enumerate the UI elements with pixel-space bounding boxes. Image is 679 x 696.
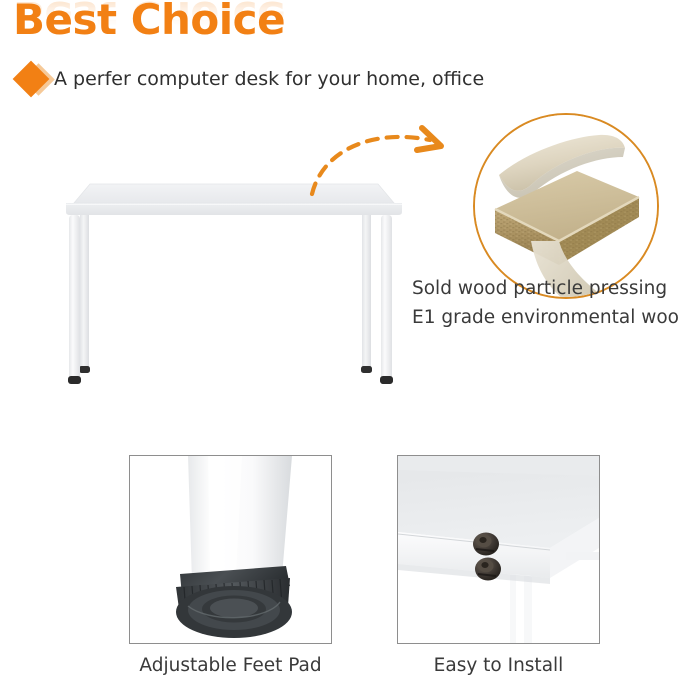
bolt-lower: [475, 558, 501, 581]
material-line-2: E1 grade environmental wood: [412, 303, 671, 332]
particle-board-illustration: [473, 113, 659, 299]
material-description: Sold wood particle pressing E1 grade env…: [412, 274, 671, 332]
desk-front-legs: [68, 215, 393, 384]
desk-svg: [44, 170, 424, 390]
headline-text: Best Choice: [13, 0, 413, 44]
page-title: Best Choice Best Choice: [13, 0, 413, 66]
subtitle-row: A perfer computer desk for your home, of…: [10, 58, 484, 100]
feature-easy-to-install: Easy to Install: [397, 455, 600, 678]
diamond-bullet-icon: [10, 58, 54, 100]
header: Best Choice Best Choice A perfer compute…: [0, 0, 679, 112]
material-line-1: Sold wood particle pressing: [412, 274, 671, 303]
desk-top-surface: [74, 184, 394, 203]
feature-panels: Adjustable Feet Pad: [129, 455, 566, 685]
feature-image-frame: [129, 455, 332, 644]
bolt-upper: [473, 533, 499, 556]
adjustable-feet-pad-photo: [130, 456, 331, 643]
feature-caption: Easy to Install: [397, 654, 600, 678]
feature-adjustable-feet-pad: Adjustable Feet Pad: [129, 455, 332, 678]
diamond-bullet-fill: [13, 61, 50, 98]
feature-image-frame: [397, 455, 600, 644]
material-callout: [473, 113, 659, 299]
subtitle-text: A perfer computer desk for your home, of…: [54, 68, 484, 90]
easy-to-install-photo: [398, 456, 599, 643]
desk-illustration: [44, 170, 424, 390]
desk-back-legs: [79, 206, 372, 373]
feature-caption: Adjustable Feet Pad: [129, 654, 332, 678]
